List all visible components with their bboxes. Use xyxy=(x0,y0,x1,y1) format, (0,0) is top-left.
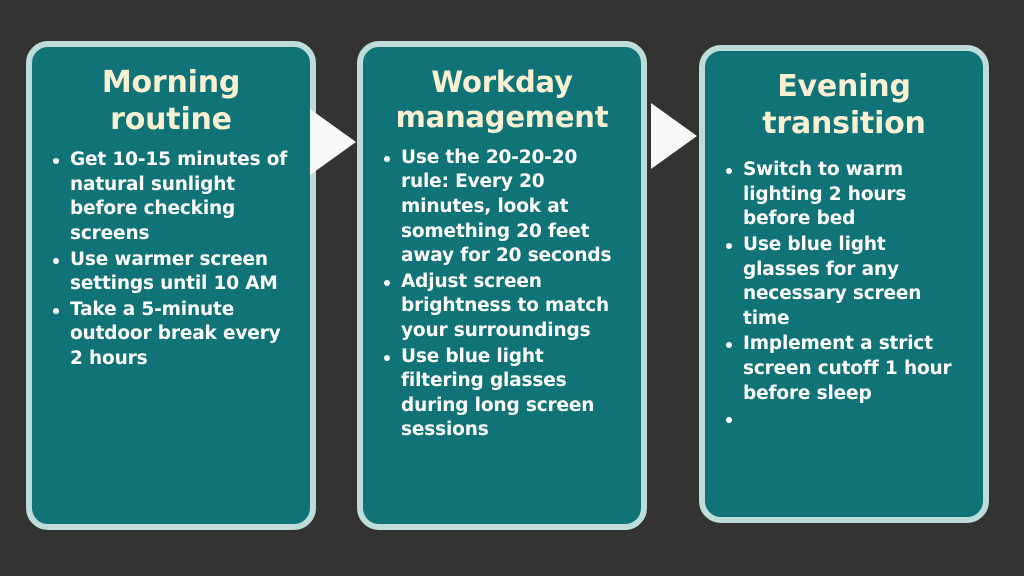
list-item: Take a 5-minute outdoor break every 2 ho… xyxy=(48,298,294,372)
diagram-canvas: Morning routine Get 10-15 minutes of nat… xyxy=(0,0,1024,576)
list-item: Implement a strict screen cutoff 1 hour … xyxy=(721,332,967,406)
list-item: Get 10-15 minutes of natural sunlight be… xyxy=(48,148,294,246)
card-title-3: Evening transition xyxy=(721,69,967,142)
arrow-right-icon xyxy=(651,103,697,169)
process-step-card-2[interactable]: Workday management Use the 20-20-20 rule… xyxy=(357,41,647,530)
arrow-right-icon xyxy=(310,109,356,175)
list-item: Use warmer screen settings until 10 AM xyxy=(48,248,294,297)
list-item: Switch to warm lighting 2 hours before b… xyxy=(721,158,967,232)
card-title-1: Morning routine xyxy=(48,65,294,138)
list-item: Use blue light filtering glasses during … xyxy=(379,345,625,443)
list-item: Use blue light glasses for any necessary… xyxy=(721,233,967,331)
list-item-empty xyxy=(721,407,967,431)
card-bullet-list-3: Switch to warm lighting 2 hours before b… xyxy=(721,158,967,431)
card-bullet-list-1: Get 10-15 minutes of natural sunlight be… xyxy=(48,148,294,371)
card-bullet-list-2: Use the 20-20-20 rule: Every 20 minutes,… xyxy=(379,146,625,443)
process-step-card-3[interactable]: Evening transition Switch to warm lighti… xyxy=(699,45,989,523)
card-title-2: Workday management xyxy=(379,65,625,136)
list-item: Use the 20-20-20 rule: Every 20 minutes,… xyxy=(379,146,625,269)
list-item: Adjust screen brightness to match your s… xyxy=(379,270,625,344)
process-step-card-1[interactable]: Morning routine Get 10-15 minutes of nat… xyxy=(26,41,316,530)
